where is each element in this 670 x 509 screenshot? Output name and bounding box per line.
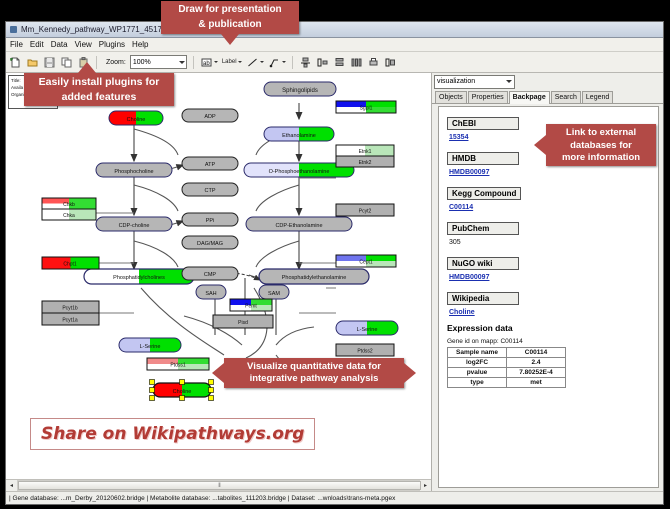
node-sphingolipids: Sphingolipids [264,82,336,96]
zoom-combobox[interactable]: 100% [130,55,187,69]
chevron-down-icon[interactable] [260,61,264,63]
line-icon[interactable] [246,56,259,69]
node-l-serine-right: L-Serine [336,321,398,335]
node-cdp-ethanolamine: CDP-Ethanolamine [246,217,352,231]
node-choline-top: Choline [109,111,163,125]
order-icon[interactable] [384,56,397,69]
node-l-serine-left: L-Serine [119,338,181,352]
text-box-icon[interactable]: ab [200,56,213,69]
svg-text:Ethanolamine: Ethanolamine [282,133,316,139]
table-row: log2FC 2.4 [448,358,566,368]
svg-text:SAH: SAH [205,291,216,297]
svg-text:CTP: CTP [205,188,216,194]
backpage-value-pubchem: 305 [449,239,650,246]
visualization-row: visualization [432,73,663,90]
svg-text:O-Phosphoethanolamine: O-Phosphoethanolamine [269,169,330,175]
gene-etnk2: Etnk2 [336,156,394,167]
svg-text:Chpt1: Chpt1 [63,262,77,268]
callout-links-line1: Link to external [546,126,656,140]
svg-text:ATP: ATP [205,162,216,168]
svg-text:CMP: CMP [204,272,217,278]
chevron-down-icon[interactable] [282,61,286,63]
group-icon[interactable] [316,56,329,69]
svg-text:Choline: Choline [173,389,192,395]
gene-ptdss2: Ptdss2 [336,344,394,356]
node-cmp: CMP [182,267,238,280]
menu-item-plugins[interactable]: Plugins [99,40,125,49]
pathway-diagram[interactable]: Sphingolipids Choline Ethanolamine [6,73,431,403]
distribute-icon[interactable] [350,56,363,69]
hscroll-thumb[interactable]: ‖ [18,481,421,490]
gene-pcyt2: Pcyt2 [336,204,394,216]
svg-text:Pcyt1b: Pcyt1b [62,306,78,312]
tab-objects[interactable]: Objects [435,91,467,103]
gene-pemt: Pemt [230,299,272,311]
node-ctp-final: CTP [182,183,238,196]
cell-value: C00114 [507,348,566,358]
callout-links-line3: more information [546,152,656,164]
chevron-down-icon [506,80,512,83]
screenshot-root: Mm_Kennedy_pathway_WP1771_45176.gpml Fil… [0,0,670,509]
svg-text:ADP: ADP [204,114,216,120]
chevron-down-icon[interactable] [238,61,242,63]
gene-chka: Chka [42,209,96,220]
node-ethanolamine: Ethanolamine [264,127,334,141]
backpage-header-hmdb: HMDB [447,152,519,165]
backpage-header-nugo: NuGO wiki [447,257,519,270]
tab-legend[interactable]: Legend [582,91,613,103]
svg-text:Cept1: Cept1 [359,260,373,266]
cell-value: met [507,378,566,388]
backpage-link-wikipedia[interactable]: Choline [449,309,650,316]
cell-label: Sample name [448,348,507,358]
svg-text:Pcyt2: Pcyt2 [359,209,372,215]
title-bar: Mm_Kennedy_pathway_WP1771_45176.gpml [6,22,663,38]
svg-text:Etnk1: Etnk1 [359,149,372,155]
svg-text:Chkb: Chkb [63,202,75,208]
label-tool-label: Label [222,59,237,65]
scroll-left-arrow[interactable]: ◂ [6,481,17,491]
callout-draw: Draw for presentation & publication [161,1,299,34]
node-ppi: PPi [182,213,238,226]
svg-text:Pemt: Pemt [245,304,257,310]
hscroll-track[interactable]: ‖ [17,480,420,491]
new-file-icon[interactable] [9,56,22,69]
cell-value: 7.80252E-4 [507,368,566,378]
svg-text:Choline: Choline [127,117,146,123]
menu-item-view[interactable]: View [75,40,92,49]
callout-visualize-line2: integrative pathway analysis [224,373,404,388]
svg-text:Pcyt1a: Pcyt1a [62,318,78,324]
stack-icon[interactable] [333,56,346,69]
callout-visualize: Visualize quantitative data for integrat… [224,358,404,388]
svg-text:L-Serine: L-Serine [357,327,378,333]
status-bar: | Gene database: ...m_Derby_20120602.bri… [6,491,663,504]
menu-item-data[interactable]: Data [51,40,68,49]
interaction-icon[interactable] [268,56,281,69]
svg-text:Sgpl1: Sgpl1 [360,106,373,112]
copy-icon[interactable] [60,56,73,69]
zoom-value: 100% [133,59,151,66]
open-folder-icon[interactable] [26,56,39,69]
label-tool-group[interactable]: Label [222,59,242,65]
canvas-hscrollbar[interactable]: ◂ ‖ ▸ [6,479,431,491]
cell-value: 2.4 [507,358,566,368]
svg-text:CDP-Ethanolamine: CDP-Ethanolamine [275,223,322,229]
node-sah: SAH [196,285,226,299]
callout-links: Link to external databases for more info… [546,124,656,166]
svg-text:PPi: PPi [206,218,215,224]
gene-pcyt1b: Pcyt1b [42,301,99,313]
print-icon[interactable] [367,56,380,69]
gene-chpt1: Chpt1 [42,257,99,269]
gene-pcyt1a: Pcyt1a [42,313,99,325]
visualization-value: visualization [437,78,475,85]
node-phosphatidylethanolamine: Phosphatidylethanolamine [259,269,369,284]
tab-backpage[interactable]: Backpage [509,91,550,104]
callout-arrow-left-icon [212,363,224,383]
expression-data-title: Expression data [447,323,650,333]
visualization-combobox[interactable]: visualization [434,75,515,89]
menu-item-file[interactable]: File [10,40,23,49]
share-callout: Share on Wikipathways.org [30,418,315,450]
side-panel-tabs: Objects Properties Backpage Search Legen… [432,90,663,104]
chevron-down-icon [179,61,185,64]
backpage-header-wikipedia: Wikipedia [447,292,519,305]
svg-text:L-Serine: L-Serine [140,344,161,350]
svg-text:Etnk2: Etnk2 [359,160,372,166]
callout-plugins: Easily install plugins for added feature… [24,73,174,106]
callout-visualize-line1: Visualize quantitative data for [224,358,404,373]
node-phosphocholine: Phosphocholine [96,163,172,177]
gene-etnk1: Etnk1 [336,145,394,156]
zoom-label: Zoom: [106,59,126,66]
toolbar-separator [292,56,293,69]
cell-label: pvalue [448,368,507,378]
share-callout-text: Share on Wikipathways.org [41,424,304,444]
menu-item-edit[interactable]: Edit [30,40,44,49]
callout-arrow-up-icon [78,62,96,73]
node-dagmag: DAG/MAG [182,236,238,249]
callout-arrow-left-icon [534,135,546,155]
tab-search[interactable]: Search [551,91,581,103]
backpage-header-pubchem: PubChem [447,222,519,235]
cell-label: log2FC [448,358,507,368]
svg-text:Phosphocholine: Phosphocholine [114,169,153,175]
svg-text:ab: ab [203,61,210,67]
gene-pisd: Pisd [213,315,273,328]
table-row: pvalue 7.80252E-4 [448,368,566,378]
status-text: | Gene database: ...m_Derby_20120602.bri… [9,495,395,502]
backpage-link-kegg[interactable]: C00114 [449,204,650,211]
svg-text:Ptdss2: Ptdss2 [357,349,373,355]
backpage-link-nugo[interactable]: HMDB00097 [449,274,650,281]
callout-links-line2: databases for [546,140,656,152]
svg-text:DAG/MAG: DAG/MAG [197,241,223,247]
callout-draw-line1: Draw for presentation [161,1,299,19]
svg-text:Phosphatidylethanolamine: Phosphatidylethanolamine [282,275,347,281]
app-icon [9,25,18,34]
callout-arrow-right-icon [404,363,416,383]
node-choline-selected: Choline [150,380,214,401]
tab-properties[interactable]: Properties [468,91,508,103]
node-cdp-choline: CDP-choline [96,217,172,231]
toolbar-separator [96,56,97,69]
align-icon[interactable] [299,56,312,69]
callout-plugins-line2: added features [24,91,174,106]
expression-table: Sample name C00114 log2FC 2.4 pvalue 7.8… [447,347,566,388]
gene-sgpl1: Sgpl1 [336,101,396,113]
menu-item-help[interactable]: Help [132,40,148,49]
node-phosphatidylcholines: Phosphatidylcholines [84,269,194,284]
svg-text:Sphingolipids: Sphingolipids [282,88,318,94]
pathway-canvas[interactable]: Title: Availa Organi [6,73,431,479]
svg-text:Phosphatidylcholines: Phosphatidylcholines [113,275,165,281]
save-icon[interactable] [43,56,56,69]
menu-bar: File Edit Data View Plugins Help [6,38,663,52]
gene-id-line: Gene id on mapp: C00114 [447,338,650,345]
scroll-right-arrow[interactable]: ▸ [420,481,431,491]
node-sam: SAM [259,285,289,299]
table-row: Sample name C00114 [448,348,566,358]
svg-text:CDP-choline: CDP-choline [119,223,150,229]
backpage-header-kegg: Kegg Compound [447,187,521,200]
gene-ptdss1: Ptdss1 [147,358,209,370]
node-adp: ADP [182,109,238,122]
callout-arrow-down-icon [221,34,239,45]
gene-chkb: Chkb [42,198,96,209]
interaction-tool-group[interactable] [268,56,286,69]
text-tool-group[interactable]: ab [200,56,218,69]
gene-cept1: Cept1 [336,255,396,267]
svg-text:SAM: SAM [268,291,280,297]
toolbar-separator [193,56,194,69]
callout-plugins-line1: Easily install plugins for [24,73,174,91]
callout-draw-line2: & publication [161,19,299,34]
backpage-header-chebi: ChEBI [447,117,519,130]
toolbar: Zoom: 100% ab Label [6,52,663,73]
line-tool-group[interactable] [246,56,264,69]
svg-text:Pisd: Pisd [238,320,248,326]
svg-text:Ptdss1: Ptdss1 [170,363,186,369]
cell-label: type [448,378,507,388]
pathway-canvas-panel: Title: Availa Organi [6,73,432,491]
backpage-link-hmdb[interactable]: HMDB00097 [449,169,650,176]
table-row: type met [448,378,566,388]
node-atp: ATP [182,157,238,170]
svg-text:Chka: Chka [63,213,75,219]
chevron-down-icon[interactable] [214,61,218,63]
